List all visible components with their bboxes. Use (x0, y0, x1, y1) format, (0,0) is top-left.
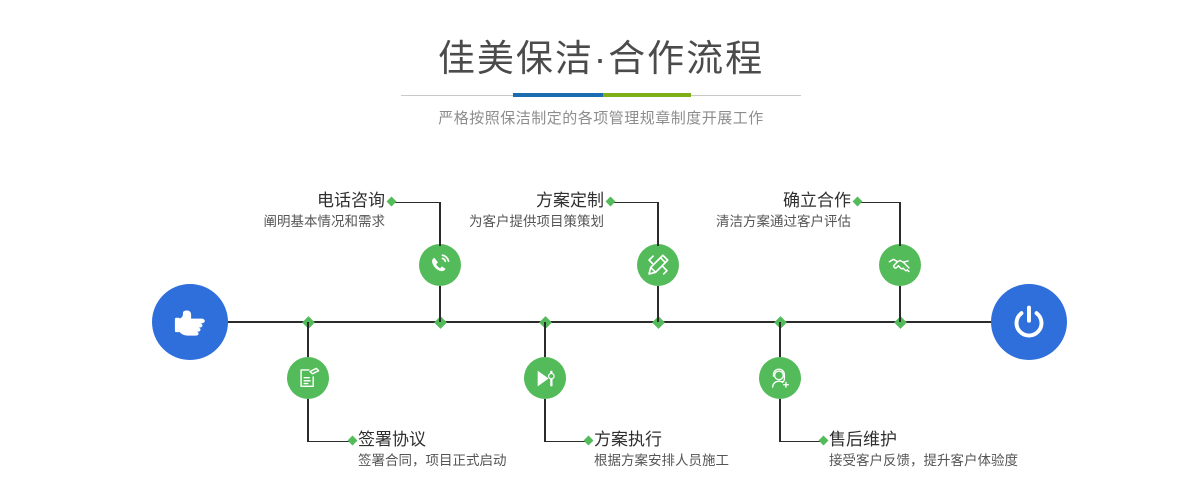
connector-stem (779, 399, 781, 441)
step-icon-confirm-cooperation[interactable] (879, 244, 921, 286)
connector-stem (439, 286, 441, 322)
pointing-hand-icon (169, 301, 211, 343)
document-edit-icon (296, 366, 321, 391)
step-title: 售后维护 (829, 429, 1109, 451)
connector-stem (899, 202, 901, 246)
label-marker (853, 197, 863, 207)
label-marker (348, 436, 358, 446)
divider-green-segment (603, 93, 691, 97)
step-title: 确立合作 (610, 190, 851, 212)
step-desc: 阐明基本情况和需求 (140, 212, 385, 232)
step-title: 电话咨询 (140, 190, 385, 212)
page-subtitle: 严格按照保洁制定的各项管理规章制度开展工作 (0, 107, 1202, 131)
step-desc: 签署合同，项目正式启动 (358, 451, 618, 471)
step-icon-sign-agreement[interactable] (287, 357, 329, 399)
connector-elbow (307, 441, 352, 442)
headset-support-icon (768, 366, 793, 391)
connector-stem (544, 322, 546, 357)
step-desc: 为客户提供项目策策划 (360, 212, 604, 232)
connector-elbow (544, 441, 588, 442)
handshake-icon (887, 252, 913, 278)
step-label-phone-consult: 电话咨询 阐明基本情况和需求 (140, 190, 385, 232)
connector-elbow (779, 441, 823, 442)
connector-stem (307, 399, 309, 441)
step-icon-after-sales[interactable] (759, 357, 801, 399)
timeline-axis (226, 321, 994, 323)
cooperation-process-infographic: 佳美保洁·合作流程 严格按照保洁制定的各项管理规章制度开展工作 (0, 0, 1202, 502)
step-icon-plan-design[interactable] (637, 244, 679, 286)
power-icon (1008, 301, 1050, 343)
step-title: 方案定制 (360, 190, 604, 212)
connector-stem (544, 399, 546, 441)
step-desc: 根据方案安排人员施工 (594, 451, 854, 471)
step-label-plan-design: 方案定制 为客户提供项目策策划 (360, 190, 604, 232)
step-icon-phone-consult[interactable] (419, 244, 461, 286)
connector-stem (657, 286, 659, 322)
step-label-plan-execute: 方案执行 根据方案安排人员施工 (594, 429, 854, 471)
step-label-confirm-cooperation: 确立合作 清洁方案通过客户评估 (610, 190, 851, 232)
connector-stem (899, 286, 901, 322)
play-execute-icon (533, 366, 558, 391)
timeline-start-node (152, 284, 228, 360)
page-title: 佳美保洁·合作流程 (0, 38, 1202, 80)
step-desc: 接受客户反馈，提升客户体验度 (829, 451, 1109, 471)
connector-stem (307, 322, 309, 357)
phone-call-icon (427, 252, 453, 278)
title-divider (401, 93, 801, 97)
step-icon-plan-execute[interactable] (524, 357, 566, 399)
connector-stem (779, 322, 781, 357)
divider-blue-segment (513, 93, 603, 97)
step-label-after-sales: 售后维护 接受客户反馈，提升客户体验度 (829, 429, 1109, 471)
step-desc: 清洁方案通过客户评估 (610, 212, 851, 232)
connector-elbow (858, 202, 900, 203)
timeline-end-node (991, 284, 1067, 360)
step-label-sign-agreement: 签署协议 签署合同，项目正式启动 (358, 429, 618, 471)
pencil-ruler-icon (645, 252, 671, 278)
